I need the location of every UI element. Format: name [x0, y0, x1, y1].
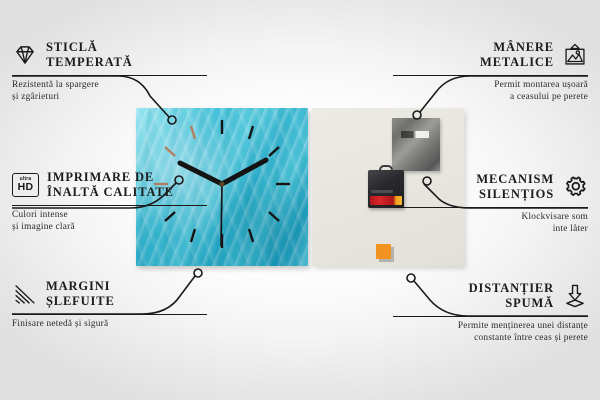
feature-silent-mechanism-head: MECANISM SILENȚIOS: [393, 170, 588, 204]
title-line-2: SILENȚIOS: [476, 187, 554, 202]
feature-metal-hangers: MÂNERE METALICE Permit montarea ușoară a…: [393, 38, 588, 104]
gear-icon: [562, 174, 588, 200]
title-line-2: TEMPERATĂ: [46, 55, 133, 70]
title-line-2: ȘLEFUITE: [46, 294, 115, 309]
mechanism-hook: [379, 165, 393, 172]
second-hand: [221, 184, 222, 246]
infographic-canvas: STICLĂ TEMPERATĂ Rezistentă la spargere …: [0, 0, 600, 400]
desc-line-1: Finisare netedă și sigură: [12, 318, 207, 330]
desc-line-1: Rezistentă la spargere: [12, 79, 207, 91]
feature-foam-spacer: DISTANȚIER SPUMĂ Permite menținerea unei…: [393, 279, 588, 345]
foam-spacer: [376, 244, 391, 259]
feature-polished-edges-desc: Finisare netedă și sigură: [12, 318, 207, 330]
feature-tempered-glass-head: STICLĂ TEMPERATĂ: [12, 38, 207, 72]
diagonal-lines-icon: [12, 281, 38, 307]
title-line-1: MECANISM: [476, 172, 554, 187]
clock-face: [136, 108, 308, 266]
hanging-frame-icon: [562, 42, 588, 68]
hour-hand: [180, 163, 222, 184]
title-line-1: STICLĂ: [46, 40, 133, 55]
feature-divider: [12, 314, 207, 315]
ultra-hd-badge-icon: ultra HD: [12, 173, 39, 197]
badge-large-label: HD: [18, 182, 34, 193]
feature-foam-spacer-title: DISTANȚIER SPUMĂ: [469, 281, 554, 311]
feature-tempered-glass: STICLĂ TEMPERATĂ Rezistentă la spargere …: [12, 38, 207, 104]
feature-metal-hangers-desc: Permit montarea ușoară a ceasului pe per…: [393, 79, 588, 104]
feature-tempered-glass-desc: Rezistentă la spargere și zgârieturi: [12, 79, 207, 104]
minute-hand: [222, 160, 266, 184]
feature-polished-edges-title: MARGINI ȘLEFUITE: [46, 279, 115, 309]
metal-hanger-plate: [392, 118, 440, 171]
desc-line-1: Klockvisare som: [393, 211, 588, 223]
feature-silent-mechanism-desc: Klockvisare som inte låter: [393, 211, 588, 236]
feature-divider: [393, 207, 588, 208]
feature-divider: [393, 75, 588, 76]
feature-foam-spacer-head: DISTANȚIER SPUMĂ: [393, 279, 588, 313]
feature-tempered-glass-title: STICLĂ TEMPERATĂ: [46, 40, 133, 70]
title-line-1: MÂNERE: [480, 40, 554, 55]
desc-line-2: inte låter: [393, 223, 588, 235]
feature-silent-mechanism-title: MECANISM SILENȚIOS: [476, 172, 554, 202]
title-line-1: MARGINI: [46, 279, 115, 294]
feature-divider: [393, 316, 588, 317]
desc-line-2: a ceasului pe perete: [393, 91, 588, 103]
desc-line-1: Permite menținerea unei distanțe: [393, 320, 588, 332]
title-line-2: SPUMĂ: [469, 296, 554, 311]
desc-line-2: constante între ceas și perete: [393, 332, 588, 344]
feature-divider: [12, 75, 207, 76]
connector-endpoint-edges: [194, 269, 202, 277]
mechanism-detail: [371, 190, 393, 193]
desc-line-1: Permit montarea ușoară: [393, 79, 588, 91]
hanger-slot: [401, 131, 429, 138]
feature-polished-edges: MARGINI ȘLEFUITE Finisare netedă și sigu…: [12, 277, 207, 330]
feature-metal-hangers-head: MÂNERE METALICE: [393, 38, 588, 72]
feature-polished-edges-head: MARGINI ȘLEFUITE: [12, 277, 207, 311]
feature-silent-mechanism: MECANISM SILENȚIOS Klockvisare som inte …: [393, 170, 588, 236]
clock-center-cap: [219, 181, 224, 186]
feature-metal-hangers-title: MÂNERE METALICE: [480, 40, 554, 70]
title-line-2: METALICE: [480, 55, 554, 70]
title-line-1: DISTANȚIER: [469, 281, 554, 296]
down-arrow-pad-icon: [562, 283, 588, 309]
diamond-icon: [12, 42, 38, 68]
desc-line-2: și zgârieturi: [12, 91, 207, 103]
feature-foam-spacer-desc: Permite menținerea unei distanțe constan…: [393, 320, 588, 345]
clock-glass-panel: [136, 108, 308, 266]
